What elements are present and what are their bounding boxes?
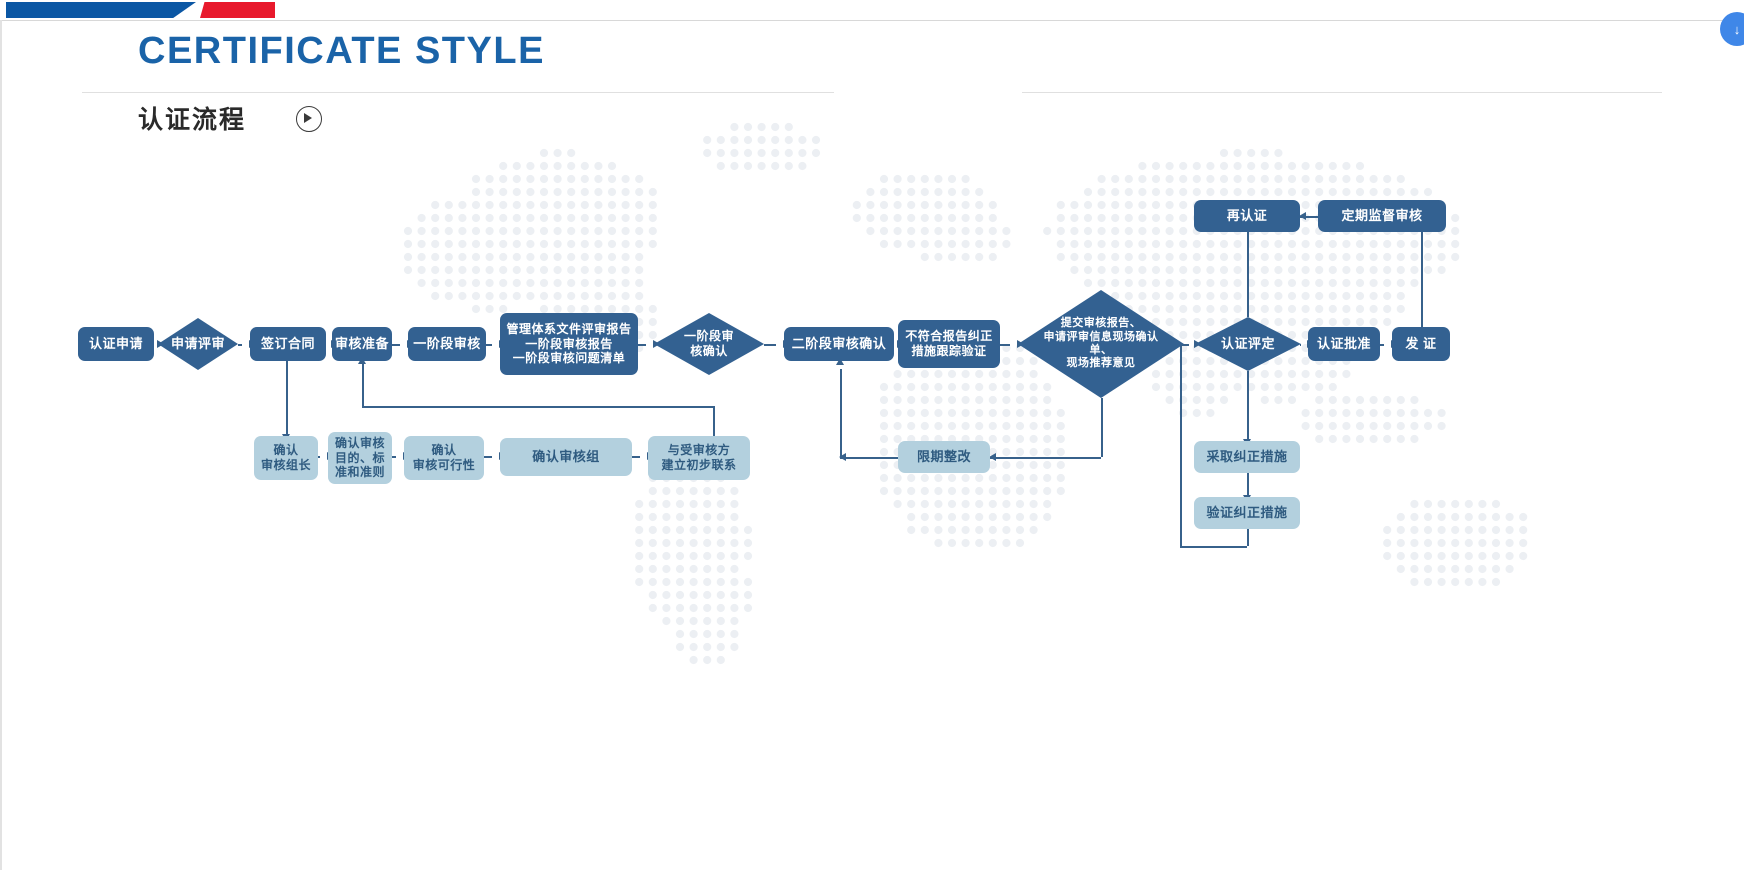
flow-node-n12[interactable]: 认证批准	[1308, 327, 1380, 361]
flow-node-label: 确认 审核组长	[256, 443, 316, 472]
world-map-background	[0, 114, 1744, 870]
flow-node-label: 申请评审	[168, 336, 229, 352]
connector-verify-left	[1180, 546, 1247, 548]
connector-main-1	[238, 344, 242, 346]
arrow-submit-left	[989, 453, 996, 461]
connector-issue-up	[1421, 232, 1423, 327]
flow-node-label: 一阶段审 核确认	[667, 329, 751, 358]
flow-node-s8[interactable]: 验证纠正措施	[1194, 497, 1300, 529]
connector-eval-down	[1247, 371, 1249, 441]
flow-node-n1[interactable]: 认证申请	[78, 327, 154, 361]
connector-sub-2	[484, 456, 492, 458]
connector-submit-left	[990, 457, 1101, 459]
flow-node-n5[interactable]: 一阶段审核	[408, 327, 486, 361]
flow-node-n8[interactable]: 二阶段审核确认	[784, 327, 894, 361]
connector-main-8	[1000, 344, 1010, 346]
connector-sub-1	[392, 456, 396, 458]
flow-node-n9[interactable]: 不符合报告纠正 措施跟踪验证	[898, 320, 1000, 368]
flow-node-n15[interactable]: 定期监督审核	[1318, 200, 1446, 232]
flow-node-label: 提交审核报告、 申请评审信息现场确认单、 现场推荐意见	[1038, 317, 1164, 371]
connector-verify-down	[1247, 529, 1249, 546]
flow-node-n3[interactable]: 签订合同	[250, 327, 326, 361]
flow-node-label: 确认 审核可行性	[406, 443, 481, 472]
connector-s5-left	[362, 406, 713, 408]
connector-s5-up	[713, 406, 715, 436]
flow-node-n7[interactable]: 一阶段审 核确认	[654, 313, 764, 375]
connector-main-5	[638, 344, 646, 346]
flow-node-s7[interactable]: 采取纠正措施	[1194, 441, 1300, 473]
flow-node-s1[interactable]: 确认 审核组长	[254, 436, 318, 480]
banner-divider	[0, 20, 1744, 21]
flow-node-label: 确认审核 目的、标 准和准则	[330, 436, 390, 480]
title-divider-left	[82, 92, 834, 93]
arrow-surv-left	[1299, 212, 1306, 220]
flow-node-label: 签订合同	[252, 336, 323, 352]
flow-node-s3[interactable]: 确认 审核可行性	[404, 436, 484, 480]
top-banner	[0, 0, 1744, 22]
banner-blue-stripe	[6, 2, 196, 18]
connector-sub-0	[318, 456, 320, 458]
connector-main-6	[764, 344, 776, 346]
flow-node-label: 二阶段审核确认	[787, 336, 890, 352]
flow-node-label: 定期监督审核	[1322, 208, 1442, 224]
connector-corr-down	[1247, 473, 1249, 497]
flow-node-label: 验证纠正措施	[1197, 505, 1297, 521]
flow-node-label: 发 证	[1394, 336, 1449, 352]
connector-main-11	[1380, 344, 1384, 346]
flow-node-n2[interactable]: 申请评审	[158, 318, 238, 370]
connector-submit-down	[1101, 398, 1103, 457]
flow-node-s4[interactable]: 确认审核组	[500, 438, 632, 476]
flow-node-s5[interactable]: 与受审核方 建立初步联系	[648, 436, 750, 480]
flow-node-label: 确认审核组	[504, 449, 628, 465]
flow-node-label: 不符合报告纠正 措施跟踪验证	[901, 329, 997, 358]
flow-node-label: 审核准备	[334, 336, 390, 352]
flow-node-label: 一阶段审核	[410, 336, 483, 352]
flow-node-label: 认证评定	[1208, 336, 1289, 352]
connector-prep-down	[286, 361, 288, 415]
flow-node-n11[interactable]: 认证评定	[1195, 317, 1301, 371]
connector-fix-left	[840, 457, 898, 459]
connector-recert-down	[1247, 232, 1249, 317]
title-divider-right	[1022, 92, 1662, 93]
flow-node-label: 限期整改	[901, 449, 987, 465]
flow-node-label: 采取纠正措施	[1197, 449, 1297, 465]
flow-node-n14[interactable]: 再认证	[1194, 200, 1300, 232]
connector-s5-to-prep	[362, 364, 364, 406]
flow-node-label: 认证申请	[80, 336, 151, 352]
connector-prep-into-s1	[286, 415, 288, 436]
flow-node-label: 管理体系文件评审报告 一阶段审核报告 一阶段审核问题清单	[504, 322, 634, 366]
flow-node-label: 再认证	[1197, 208, 1297, 224]
flow-node-n6[interactable]: 管理体系文件评审报告 一阶段审核报告 一阶段审核问题清单	[500, 313, 638, 375]
connector-sub-3	[632, 456, 640, 458]
flow-node-n4[interactable]: 审核准备	[332, 327, 392, 361]
connector-main-4	[486, 344, 492, 346]
flowchart-canvas: 认证申请申请评审签订合同审核准备一阶段审核管理体系文件评审报告 一阶段审核报告 …	[0, 114, 1744, 870]
banner-red-stripe	[200, 2, 275, 18]
connector-fix-up	[840, 369, 842, 457]
flow-node-s2[interactable]: 确认审核 目的、标 准和准则	[328, 432, 392, 484]
page-title-en: CERTIFICATE STYLE	[138, 30, 545, 73]
flow-node-s6[interactable]: 限期整改	[898, 441, 990, 473]
flow-node-n10[interactable]: 提交审核报告、 申请评审信息现场确认单、 现场推荐意见	[1018, 290, 1184, 398]
flow-node-n13[interactable]: 发 证	[1392, 327, 1450, 361]
flow-node-label: 与受审核方 建立初步联系	[651, 443, 747, 472]
page-header: CERTIFICATE STYLE 认证流程	[0, 22, 1744, 114]
connector-main-3	[392, 344, 400, 346]
flow-node-label: 认证批准	[1310, 336, 1378, 352]
